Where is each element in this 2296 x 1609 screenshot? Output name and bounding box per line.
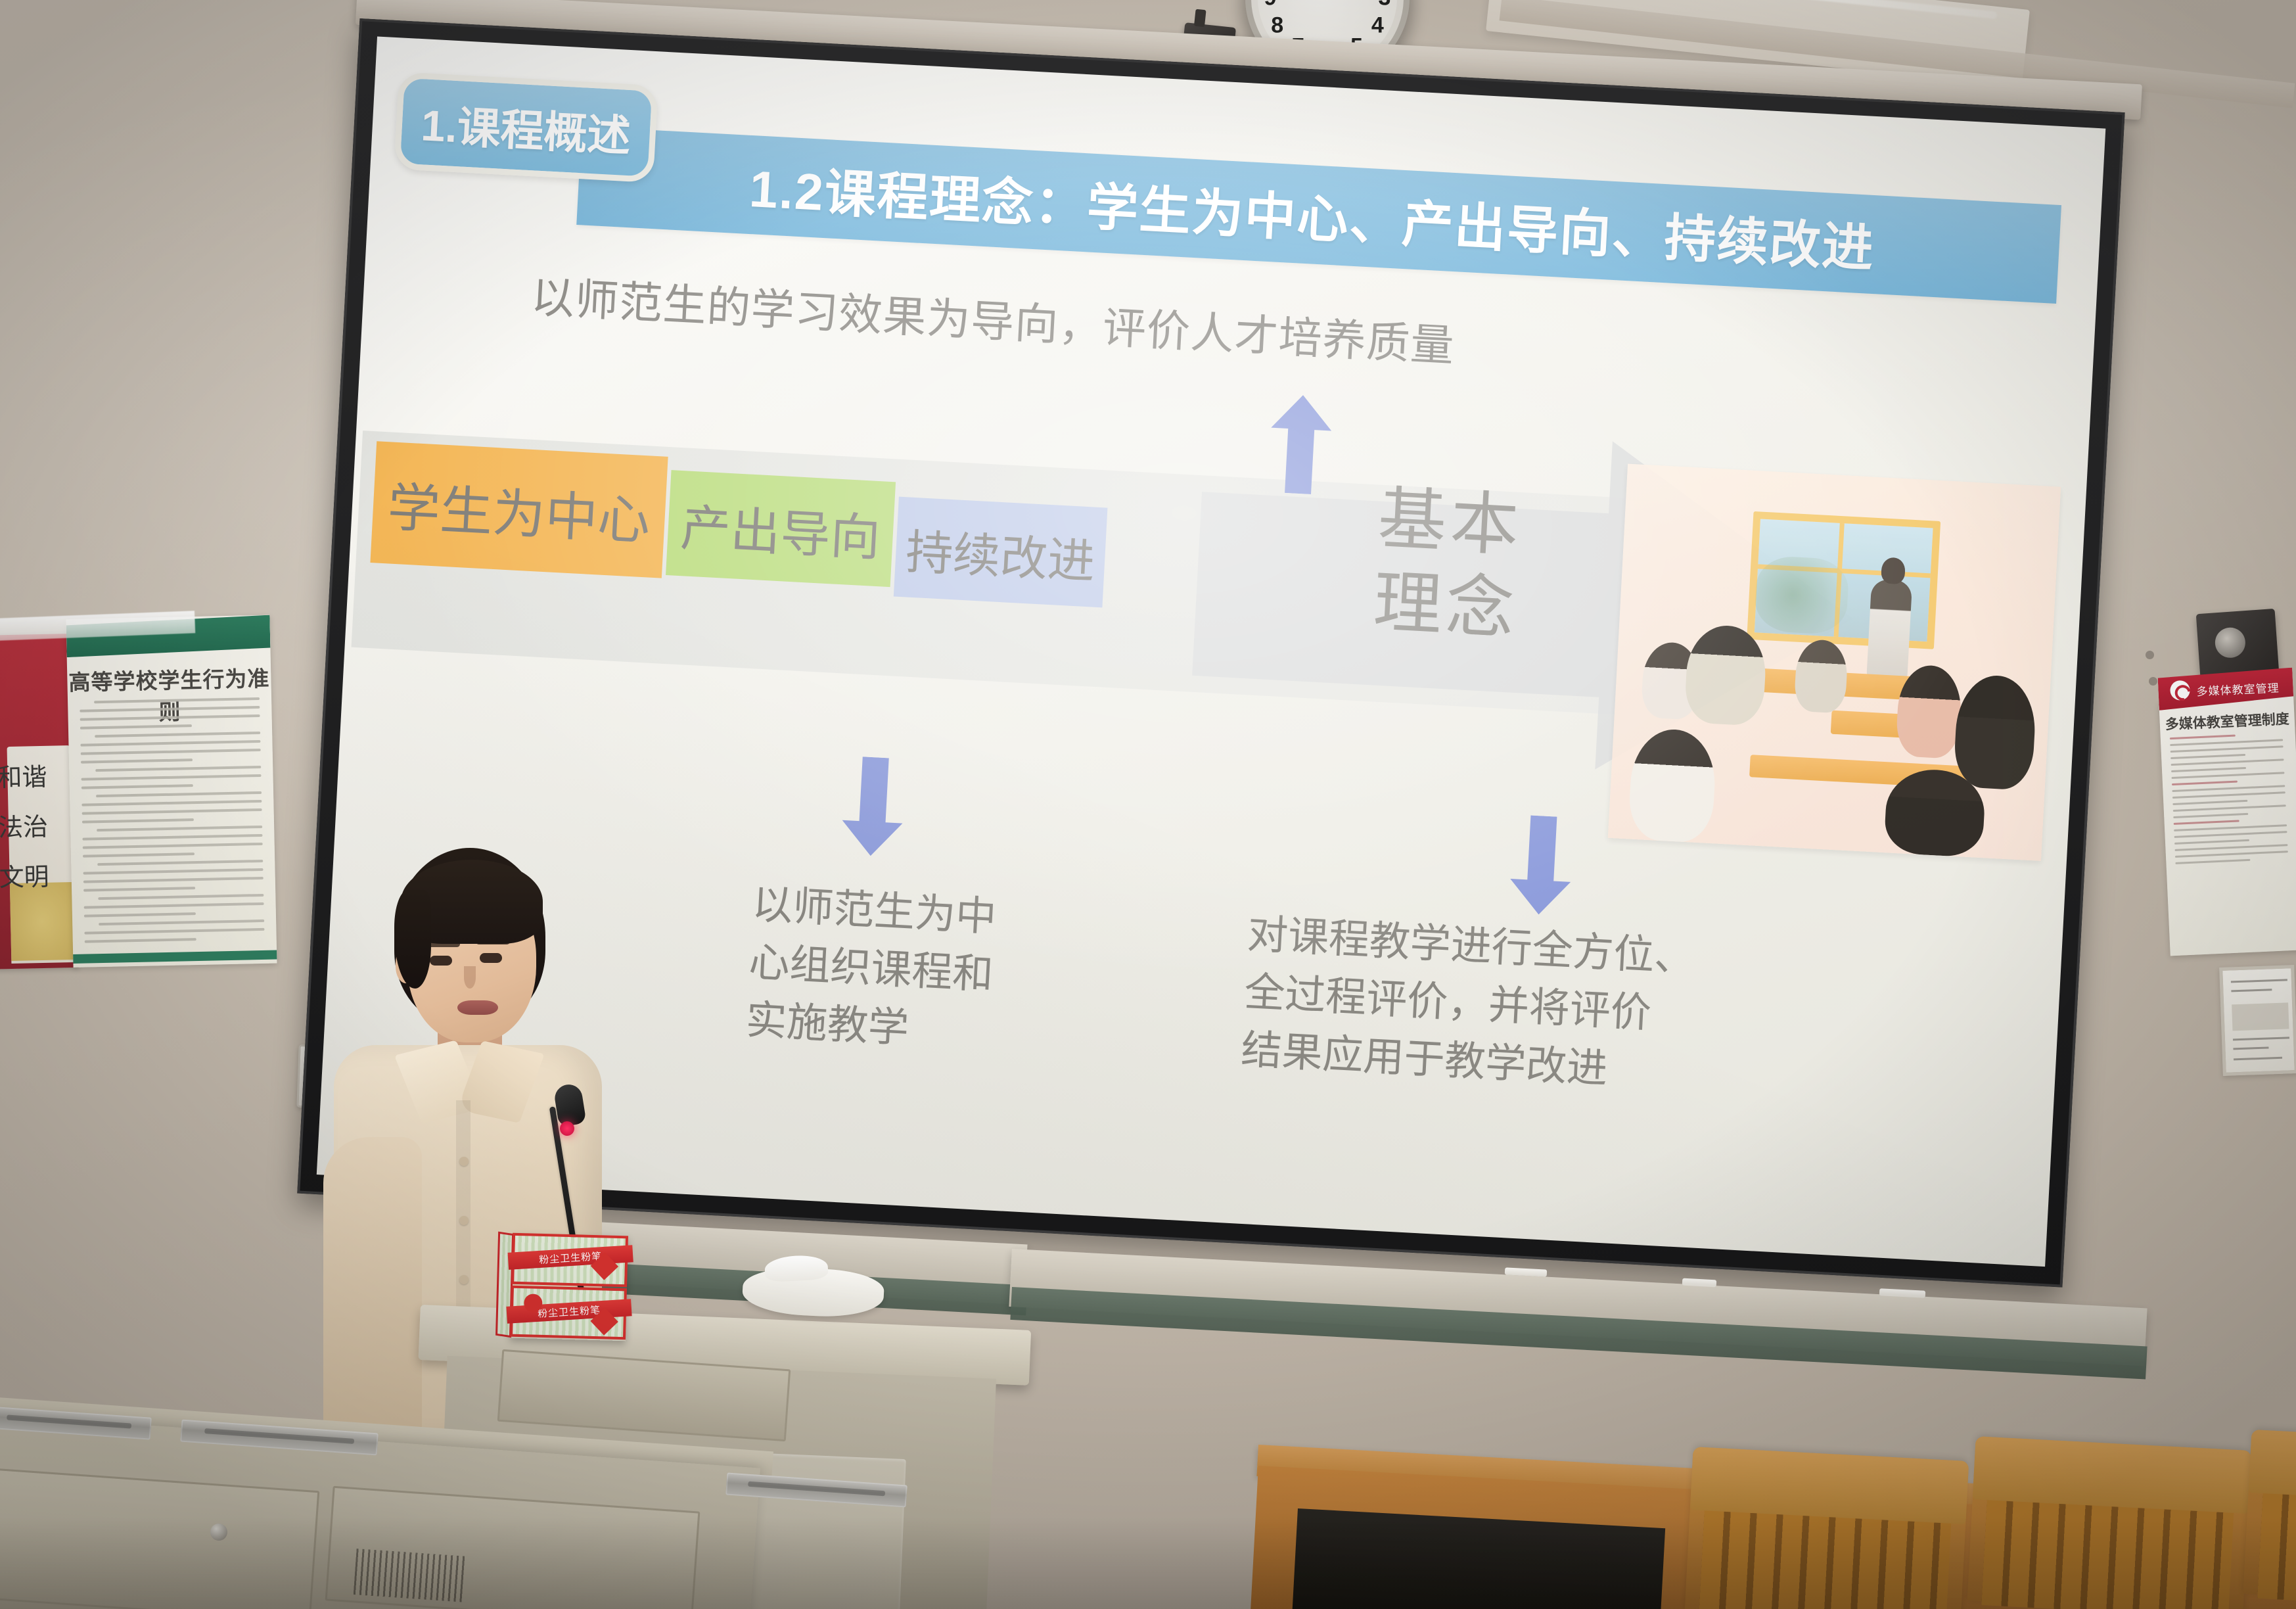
poster-multimedia-room-rules: 多媒体教室管理制度 多媒体教室管理	[2157, 668, 2296, 956]
slide-title: 1.2课程理念：学生为中心、产出导向、持续改进	[748, 148, 1877, 281]
slide-body-left: 以师范生为中 心组织课程和 实施教学	[745, 876, 998, 1063]
chair[interactable]	[2243, 1430, 2296, 1600]
arrow-down-right-icon	[1509, 814, 1574, 916]
wall-information-panel	[2219, 965, 2296, 1076]
presenter-eye-right	[480, 953, 502, 963]
slide-section-badge: 1.课程概述	[394, 72, 658, 183]
poster-right-text-lines	[2170, 732, 2289, 869]
photo-teacher	[1866, 579, 1912, 680]
poster-right-body: 多媒体教室管理制度	[2159, 697, 2296, 956]
poster-right-header-text: 多媒体教室管理	[2196, 679, 2280, 699]
wall-screw-dot	[2149, 677, 2157, 686]
wall-screw-dot	[2146, 651, 2154, 659]
slide-arrow-label-line1: 基本	[1376, 482, 1525, 565]
presenter-arm	[323, 1137, 422, 1433]
slide-classroom-photo	[1608, 464, 2061, 861]
chair-back-slats	[2257, 1493, 2296, 1604]
desk-front-panel	[0, 1467, 319, 1609]
chip-continuous-improvement: 持续改进	[894, 497, 1108, 608]
chair-top-rail	[2249, 1430, 2296, 1499]
desk-lock-knob[interactable]	[210, 1524, 227, 1541]
presenter-eye-left	[430, 956, 452, 966]
arrow-up-icon	[1268, 394, 1333, 496]
chair-back-slats	[1981, 1500, 2234, 1609]
photo-student	[1628, 728, 1718, 844]
chip-student-centered: 学生为中心	[370, 441, 668, 578]
slide-subtitle: 以师范生的学习效果为导向，评价人才培养质量	[530, 262, 1456, 375]
chip-outcome-oriented: 产出导向	[666, 470, 896, 587]
chalk-box-label-text-2: 粉尘卫生粉笔	[537, 1303, 601, 1320]
presenter-hair-front	[401, 860, 543, 944]
poster-right-title: 多媒体教室管理制度	[2159, 709, 2295, 734]
poster-green-footer	[73, 950, 277, 964]
chair[interactable]	[1967, 1436, 2252, 1609]
clock-numeral-8: 8	[1271, 13, 1283, 39]
slide-arrow-label-line2: 理念	[1371, 565, 1520, 648]
poster-body: 高等学校学生行为准则	[66, 615, 277, 968]
slide-body-right: 对课程教学进行全方位、 全过程评价，并将评价 结果应用于教学改进	[1240, 906, 1697, 1103]
presenter-shirt-button	[459, 1216, 469, 1225]
clock-numeral-9: 9	[1264, 0, 1277, 11]
slide-section-label: 1.课程概述	[420, 90, 633, 164]
clock-numeral-4: 4	[1371, 13, 1384, 39]
poster-values-text: 和谐 法治 文明	[0, 753, 51, 904]
slide-arrow-label: 基本 理念	[1371, 478, 1525, 653]
chalk-box[interactable]: 粉尘卫生粉笔 粉尘卫生粉笔	[510, 1233, 628, 1341]
arrow-down-left-icon	[840, 756, 906, 858]
poster-student-code-of-conduct: 和谐 法治 文明 高等学校学生行为准则	[0, 615, 280, 969]
poster-body-text-lines	[80, 697, 265, 949]
photo-student	[1794, 639, 1849, 714]
presenter-nose	[464, 966, 476, 989]
school-logo-icon	[2170, 680, 2190, 701]
presenter-shirt-button	[459, 1275, 469, 1284]
presenter-shirt-button	[459, 1157, 469, 1166]
classroom-scene: 12 1 2 3 4 5 6 7 8 9 10 11 和谐 法治 文明 高等学校…	[0, 0, 2296, 1609]
clock-numeral-3: 3	[1378, 0, 1390, 11]
speaker-mount-bracket	[2196, 609, 2280, 678]
chair[interactable]	[1685, 1447, 1969, 1609]
presenter-mouth	[457, 1000, 498, 1015]
desk-vent-slots	[354, 1549, 468, 1602]
photo-student	[1953, 674, 2038, 791]
chair-back-slats	[1699, 1510, 1951, 1609]
photo-trees	[1754, 555, 1850, 635]
